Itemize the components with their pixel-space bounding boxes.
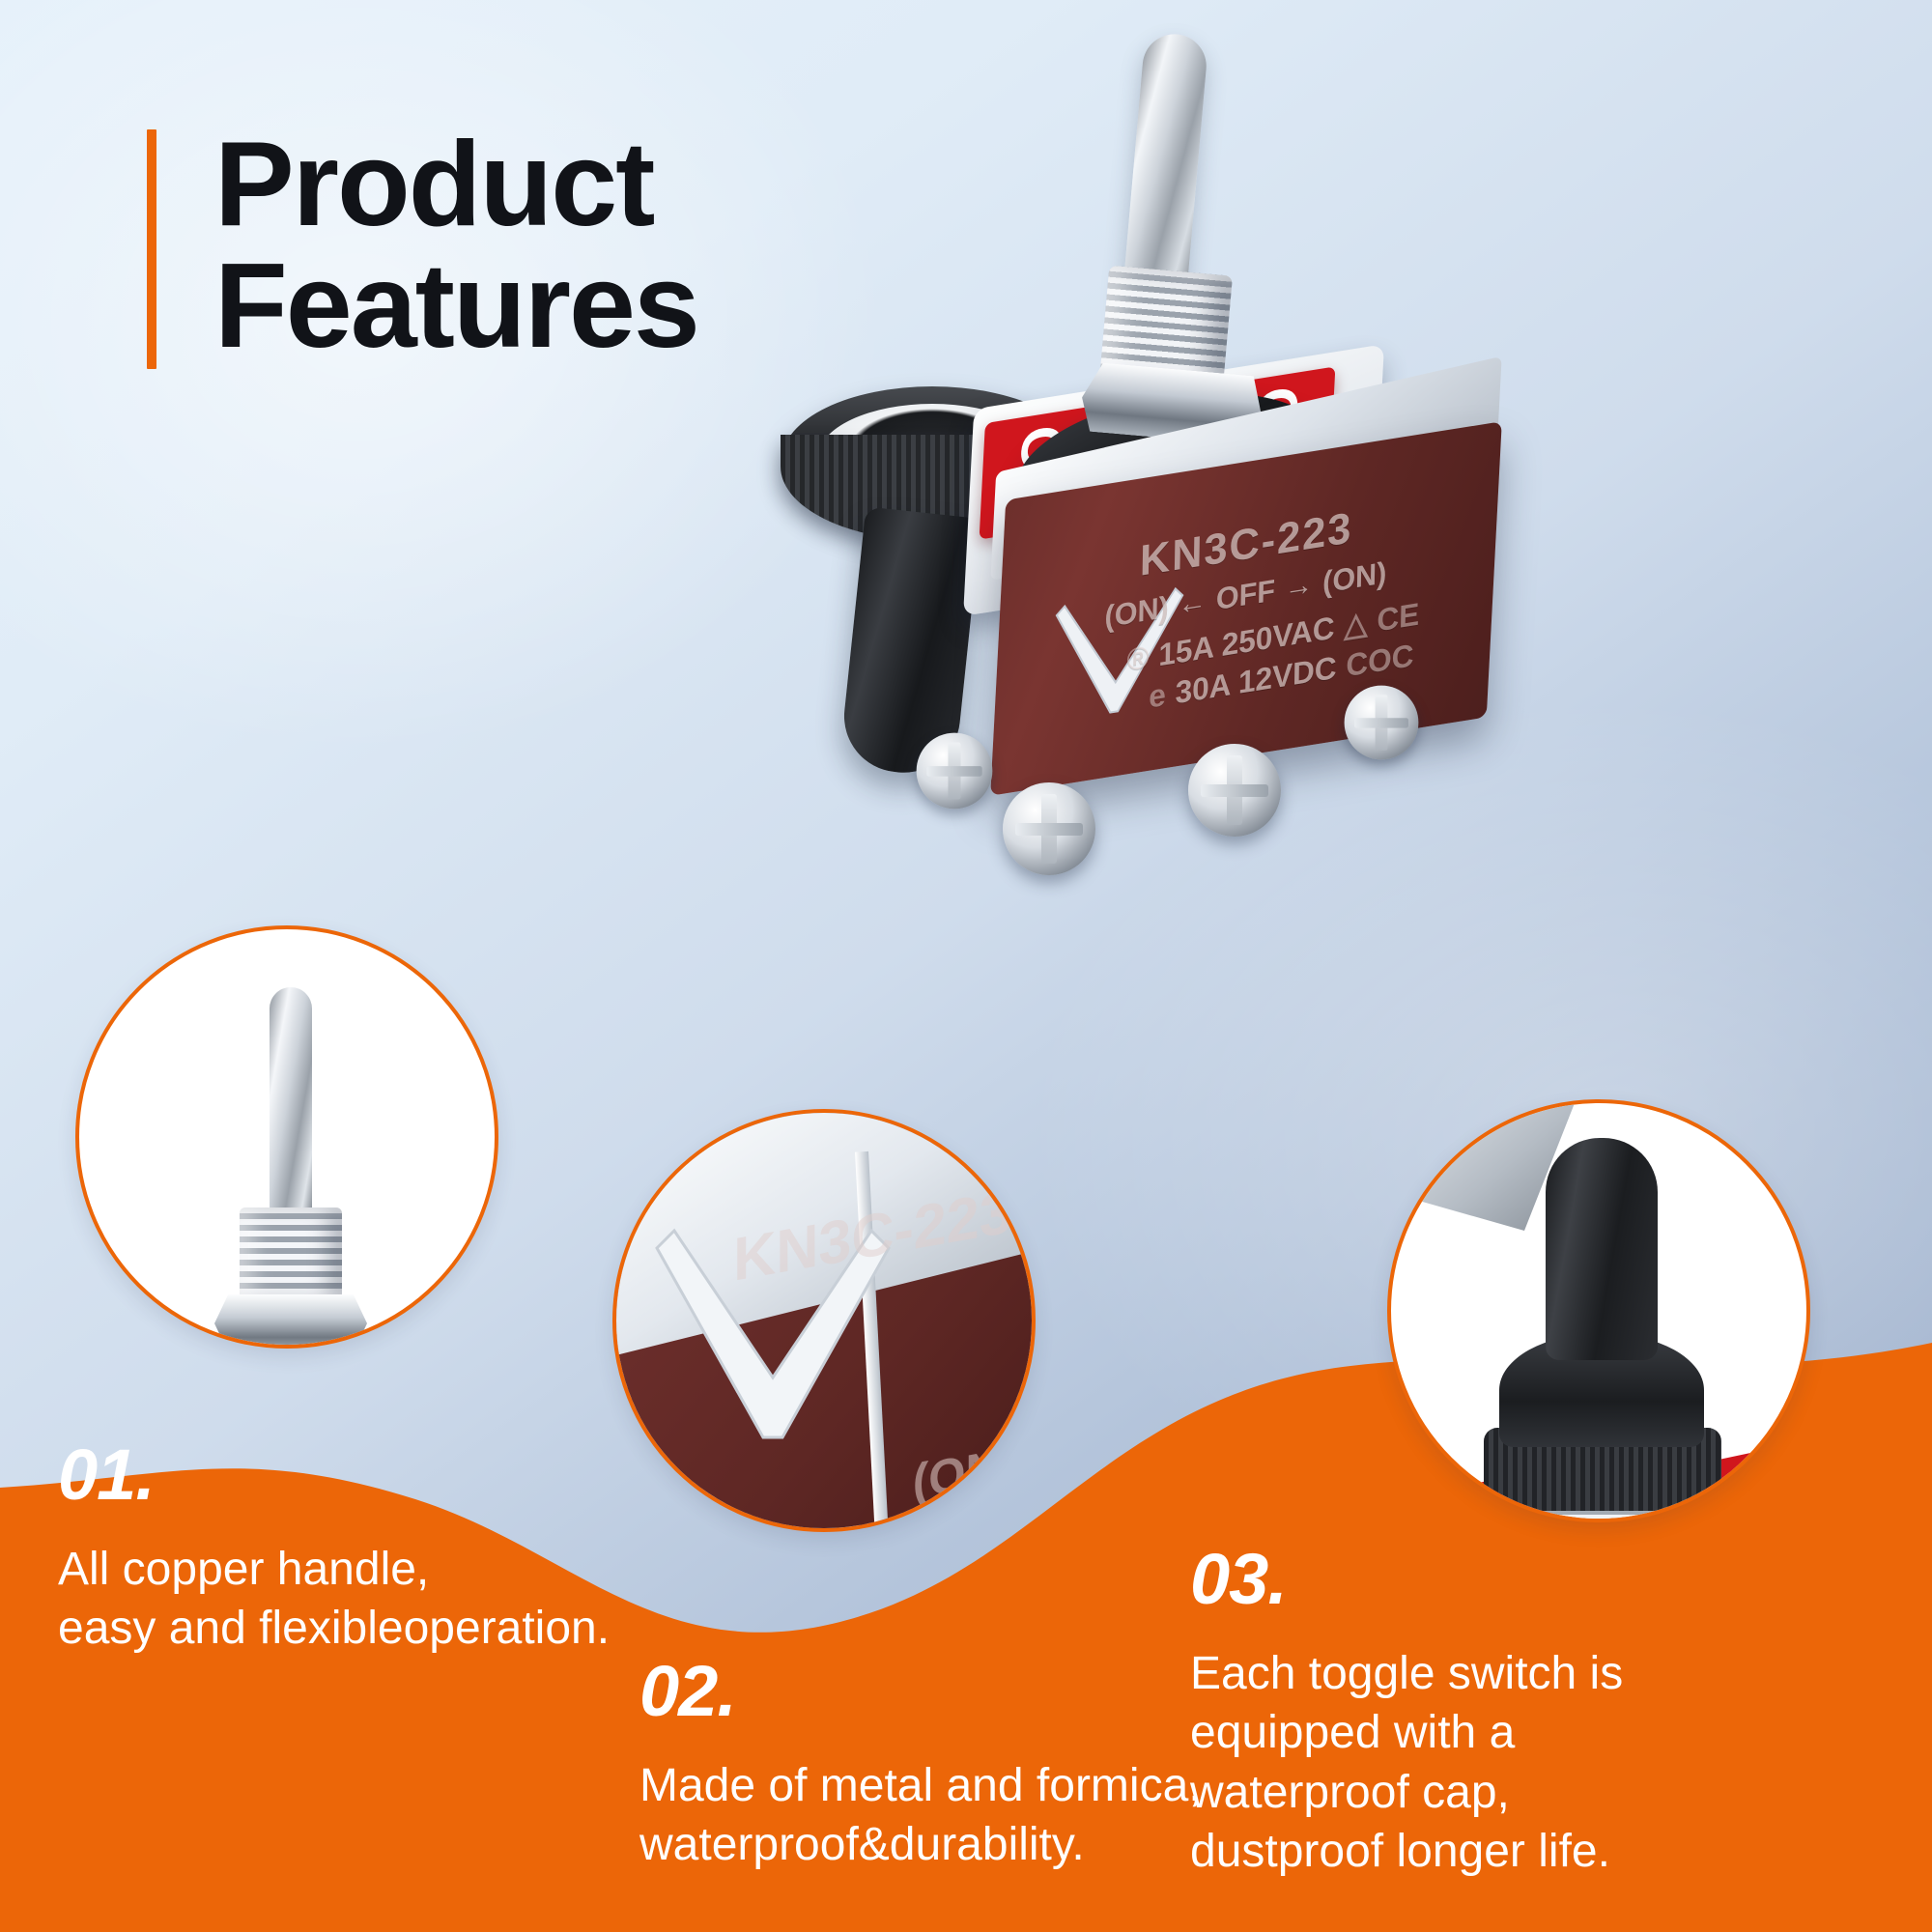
feature-number-01: 01. xyxy=(58,1439,734,1511)
solder-terminal xyxy=(1345,686,1419,760)
feature-description-03: Each toggle switch is equipped with a wa… xyxy=(1190,1644,1866,1882)
title-accent-bar xyxy=(147,129,156,369)
feature-inset-01 xyxy=(75,925,498,1349)
chrome-chevron-clip xyxy=(1040,577,1191,748)
page-title: Product Features xyxy=(214,124,698,369)
infographic-canvas: Product Features ON ON KN3C-223 (ON) xyxy=(0,0,1932,1932)
feature-description-01: All copper handle, easy and flexibleoper… xyxy=(58,1540,734,1659)
waterproof-cap-stem-icon xyxy=(1546,1138,1658,1360)
hero-product-image: ON ON KN3C-223 (ON) ← OFF → (ON) xyxy=(898,10,1922,966)
solder-terminal xyxy=(917,733,993,810)
feature-text-03: 03. Each toggle switch is equipped with … xyxy=(1190,1544,1866,1882)
feature-text-01: 01. All copper handle, easy and flexible… xyxy=(58,1439,734,1659)
on-tag-right-inset-label: ON xyxy=(1726,1462,1785,1522)
feature-number-03: 03. xyxy=(1190,1544,1866,1615)
solder-terminal xyxy=(1188,744,1281,837)
hex-nut-icon xyxy=(214,1294,367,1349)
page-title-block: Product Features xyxy=(147,124,698,369)
solder-terminal xyxy=(1003,782,1095,875)
threaded-bushing-icon xyxy=(240,1207,342,1300)
feature-inset-03: ON ON xyxy=(1387,1099,1810,1522)
chrome-lever-icon xyxy=(270,987,312,1217)
